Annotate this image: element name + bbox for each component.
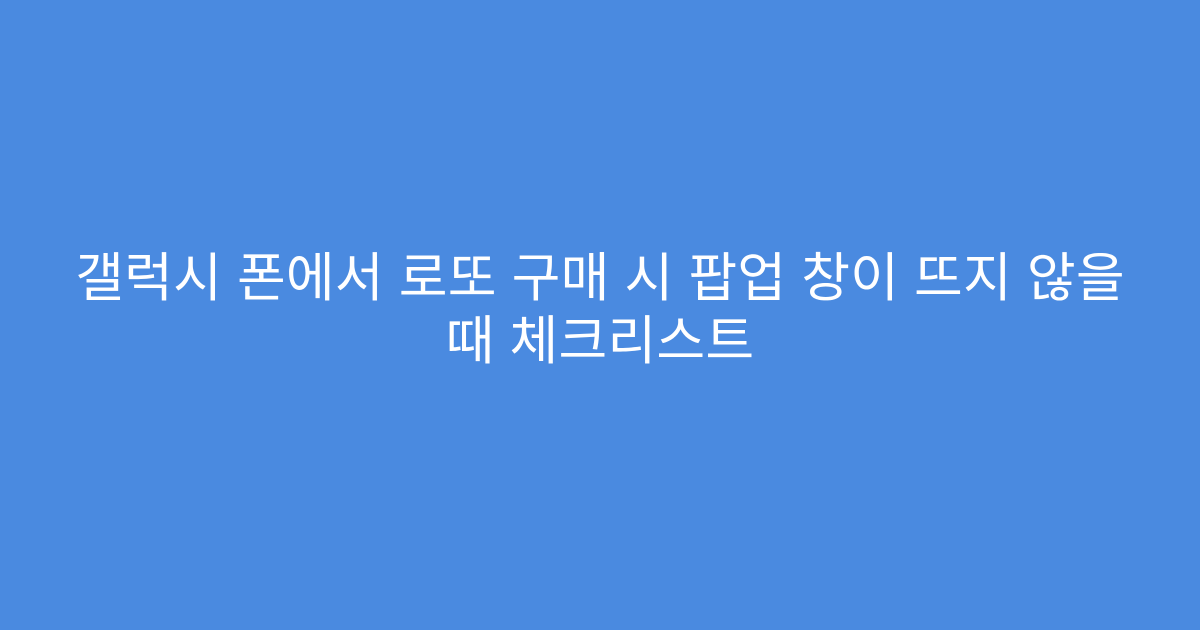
- title-block: 갤럭시 폰에서 로또 구매 시 팝업 창이 뜨지 않을 때 체크리스트: [55, 247, 1145, 373]
- page-title: 갤럭시 폰에서 로또 구매 시 팝업 창이 뜨지 않을 때 체크리스트: [55, 247, 1145, 373]
- share-card-canvas: 갤럭시 폰에서 로또 구매 시 팝업 창이 뜨지 않을 때 체크리스트: [0, 0, 1200, 630]
